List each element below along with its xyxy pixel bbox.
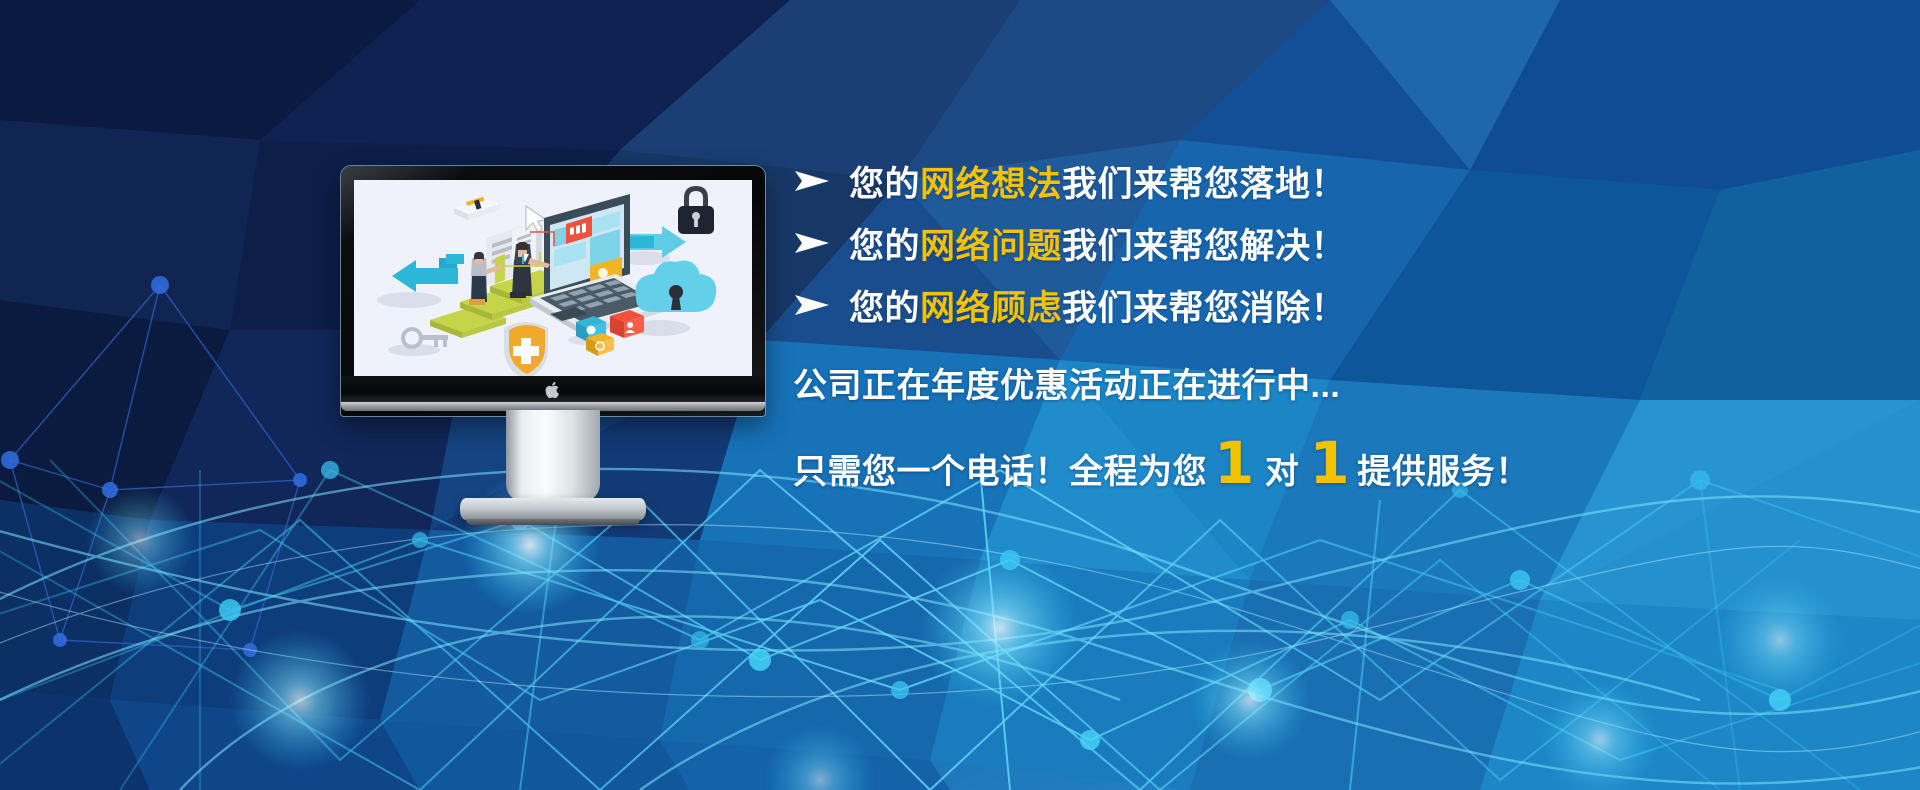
bullet-row: 您的网络顾虑我们来帮您消除！ [793,274,1643,336]
promo-banner: 您的网络想法我们来帮您落地！ 您的网络问题我们来帮您解决！ 您的网络顾虑我们来帮… [0,0,1920,790]
monitor-bezel [341,166,765,416]
cta-middle-word: 对 [1262,444,1303,493]
cta-number-two: 1 [1302,437,1357,489]
cta-part-one: 只需您一个电话！全程为您 [793,444,1207,493]
promo-line: 公司正在年度优惠活动正在进行中... [793,358,1643,407]
bullet-highlight: 网络想法 [920,165,1062,204]
arrow-bullet-icon [793,169,849,193]
bullet-highlight: 网络顾虑 [920,289,1062,328]
bullet-suffix: 我们来帮您消除！ [1062,289,1346,328]
arrow-bullet-icon [793,293,849,317]
monitor-stand-base [460,498,646,520]
cta-part-two: 提供服务！ [1357,444,1530,493]
monitor-screen [354,180,752,376]
bullet-text: 您的网络问题我们来帮您解决！ [849,218,1346,269]
bullet-row: 您的网络想法我们来帮您落地！ [793,150,1643,212]
bullet-prefix: 您的 [849,165,920,204]
cta-number-one: 1 [1207,437,1262,489]
bullet-text: 您的网络想法我们来帮您落地！ [849,156,1346,207]
apple-logo-icon [545,381,561,399]
arrow-bullet-icon [793,231,849,255]
screen-illustration [354,180,752,376]
bullet-text: 您的网络顾虑我们来帮您消除！ [849,280,1346,331]
bullet-suffix: 我们来帮您落地！ [1062,165,1346,204]
bullet-row: 您的网络问题我们来帮您解决！ [793,212,1643,274]
monitor-illustration [341,166,765,566]
shield-plus-icon [504,322,548,376]
monitor-stand-neck [506,410,600,502]
call-to-action-line: 只需您一个电话！全程为您 1 对 1 提供服务！ [793,437,1643,493]
bullet-prefix: 您的 [849,289,920,328]
bullet-highlight: 网络问题 [920,227,1062,266]
banner-copy: 您的网络想法我们来帮您落地！ 您的网络问题我们来帮您解决！ 您的网络顾虑我们来帮… [793,150,1643,570]
bullet-suffix: 我们来帮您解决！ [1062,227,1346,266]
bullet-prefix: 您的 [849,227,920,266]
